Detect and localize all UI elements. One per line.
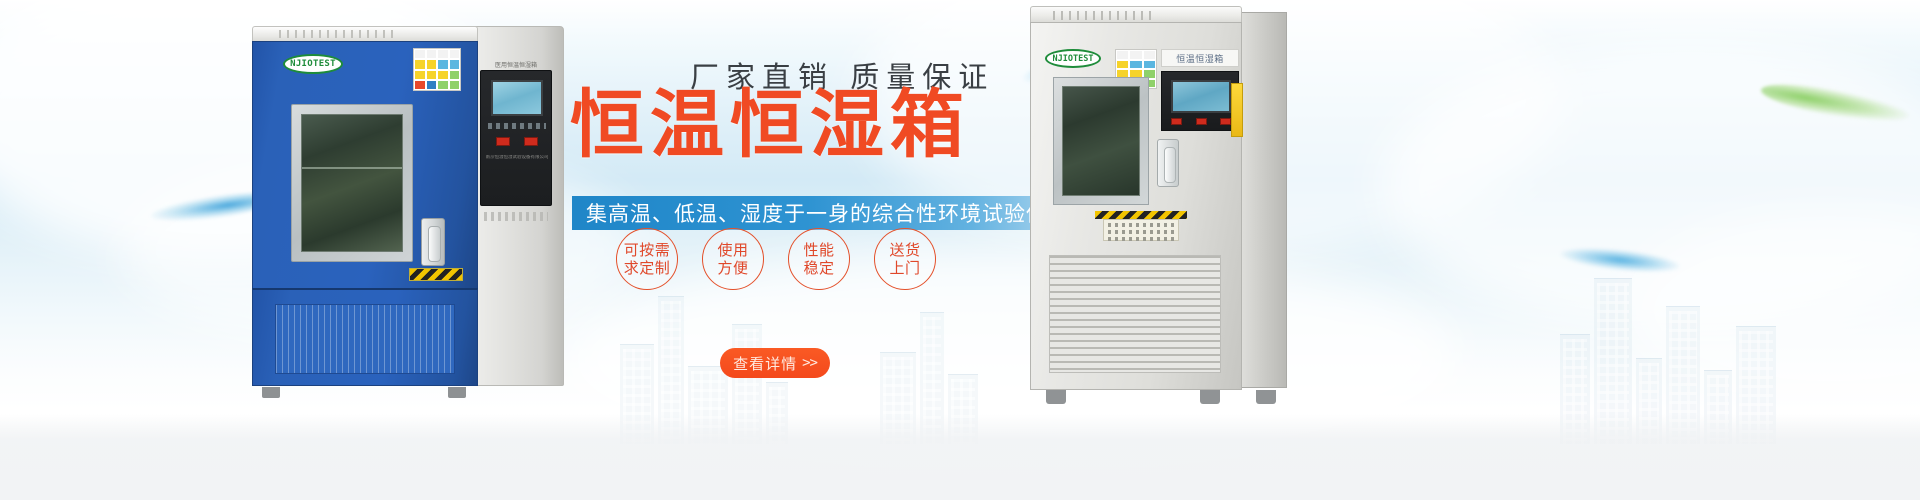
control-panel: 南京恒温恒湿试验设备有限公司 <box>480 70 552 206</box>
feature-badge-line2: 上门 <box>889 259 920 277</box>
safety-warning-sticker <box>413 48 461 91</box>
yellow-accent-strip <box>1231 83 1243 137</box>
ventilation-grille <box>275 304 455 374</box>
panel-label-strip <box>488 123 546 129</box>
caster-foot <box>1046 390 1066 404</box>
status-led <box>1171 118 1182 125</box>
chamber-feet <box>252 386 478 398</box>
panel-footer-text: 南京恒温恒湿试验设备有限公司 <box>485 155 549 162</box>
product-image-right-chamber: NJIOTEST <box>1030 6 1290 406</box>
caster-foot <box>262 387 280 398</box>
caster-foot <box>1256 390 1276 404</box>
feature-badge-line2: 稳定 <box>803 259 834 277</box>
chamber-feet <box>1030 388 1286 404</box>
status-led <box>496 137 510 146</box>
feature-badge-line1: 送货 <box>889 241 920 259</box>
ventilation-grille <box>1049 255 1221 373</box>
feature-badge-line2: 求定制 <box>624 259 671 277</box>
cloud-wisp <box>1380 40 1920 330</box>
indicator-led-row <box>489 137 545 146</box>
indicator-led-row <box>1171 118 1231 125</box>
chamber-door <box>291 104 413 262</box>
chamber-lower-body <box>252 288 478 386</box>
banner-subtitle-bar: 集高温、低温、湿度于一身的综合性环境试验仪器 <box>572 196 1084 230</box>
feature-badge-list: 可按需 求定制 使用 方便 性能 稳定 送货 上门 <box>616 228 936 290</box>
feature-badge-custom[interactable]: 可按需 求定制 <box>616 228 678 290</box>
brand-name-plate: 恒温恒湿箱 <box>1161 49 1239 67</box>
specification-plate <box>1103 219 1179 241</box>
chamber-door <box>1053 77 1149 205</box>
product-hero-banner: NJIOTEST <box>0 0 1920 500</box>
control-panel <box>1161 71 1239 131</box>
door-view-window <box>301 114 403 252</box>
vent-slots <box>279 30 397 38</box>
control-panel-title: 医用恒温恒湿箱 <box>478 60 554 69</box>
product-image-left-chamber: NJIOTEST <box>252 26 564 400</box>
chevron-right-double-icon: >> <box>802 355 817 371</box>
chamber-top-cap <box>252 26 478 42</box>
chamber-side-panel <box>1235 12 1287 388</box>
caution-hazard-strip <box>1095 211 1187 219</box>
feature-badge-line1: 可按需 <box>624 241 671 259</box>
control-screen[interactable] <box>491 80 543 116</box>
brand-logo-badge: NJIOTEST <box>283 54 343 74</box>
blue-swoosh-decoration <box>1559 244 1680 276</box>
banner-headline: 恒温恒湿箱 <box>570 88 970 162</box>
feature-badge-stable[interactable]: 性能 稳定 <box>788 228 850 290</box>
caster-foot <box>1200 390 1220 404</box>
feature-badge-easy-use[interactable]: 使用 方便 <box>702 228 764 290</box>
brand-logo-badge: NJIOTEST <box>1045 49 1101 68</box>
side-panel-label <box>484 212 548 221</box>
control-screen[interactable] <box>1171 80 1231 113</box>
status-led <box>1220 118 1231 125</box>
chamber-front-body: NJIOTEST <box>1030 22 1242 390</box>
door-view-window <box>1062 86 1140 196</box>
door-handle <box>1157 139 1179 187</box>
feature-badge-line1: 使用 <box>717 241 748 259</box>
view-details-label: 查看详情 <box>733 353 797 374</box>
door-handle <box>421 218 445 266</box>
vent-slots <box>1053 11 1153 20</box>
feature-badge-line1: 性能 <box>803 241 834 259</box>
status-led <box>1196 118 1207 125</box>
cloud-wisp <box>1620 210 1920 410</box>
caution-hazard-strip <box>409 268 463 281</box>
feature-badge-line2: 方便 <box>717 259 748 277</box>
view-details-button[interactable]: 查看详情 >> <box>720 348 830 378</box>
caster-foot <box>448 387 466 398</box>
floor-gradient-band <box>0 414 1920 500</box>
status-led <box>524 137 538 146</box>
chamber-front-body: NJIOTEST <box>252 41 478 289</box>
green-swoosh-decoration <box>1759 77 1911 129</box>
feature-badge-delivery[interactable]: 送货 上门 <box>874 228 936 290</box>
